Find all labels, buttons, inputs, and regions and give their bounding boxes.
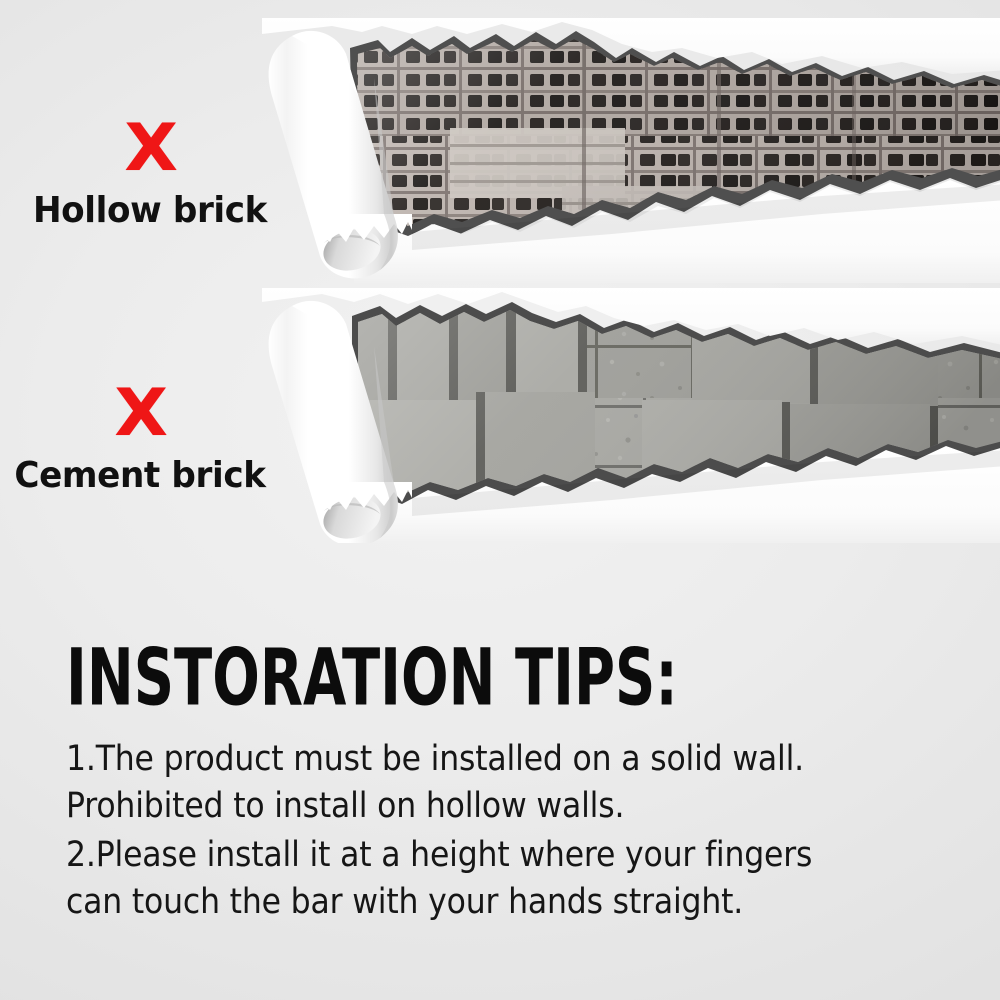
tip-item-1: 1.The product must be installed on a sol… [66, 736, 926, 830]
tip-item-2: 2.Please install it at a height where yo… [66, 832, 926, 926]
warning-label-hollow-brick: X Hollow brick [0, 118, 300, 232]
tip-line: Prohibited to install on hollow walls. [66, 783, 840, 830]
torn-strip-hollow-brick-svg [262, 18, 1000, 283]
product-instruction-poster: X Hollow brick X Cement brick INSTORATIO… [0, 0, 1000, 1000]
warning-label-text-2: Cement brick [0, 455, 283, 497]
tip-line: 2.Please install it at a height where yo… [66, 832, 840, 879]
torn-strip-cement-brick [262, 288, 1000, 543]
torn-strip-cement-brick-svg [262, 288, 1000, 543]
warning-label-cement-brick: X Cement brick [0, 383, 290, 497]
torn-strip-hollow-brick [262, 18, 1000, 283]
tip-line: 1.The product must be installed on a sol… [66, 736, 840, 783]
warning-label-text-1: Hollow brick [8, 190, 293, 232]
tips-body: 1.The product must be installed on a sol… [66, 736, 926, 926]
tip-line: can touch the bar with your hands straig… [66, 879, 840, 926]
installation-tips-section: INSTORATION TIPS: 1.The product must be … [66, 636, 926, 926]
red-x-icon-1: X [0, 117, 318, 180]
red-x-icon-2: X [0, 382, 308, 445]
tips-heading: INSTORATION TIPS: [66, 636, 754, 719]
